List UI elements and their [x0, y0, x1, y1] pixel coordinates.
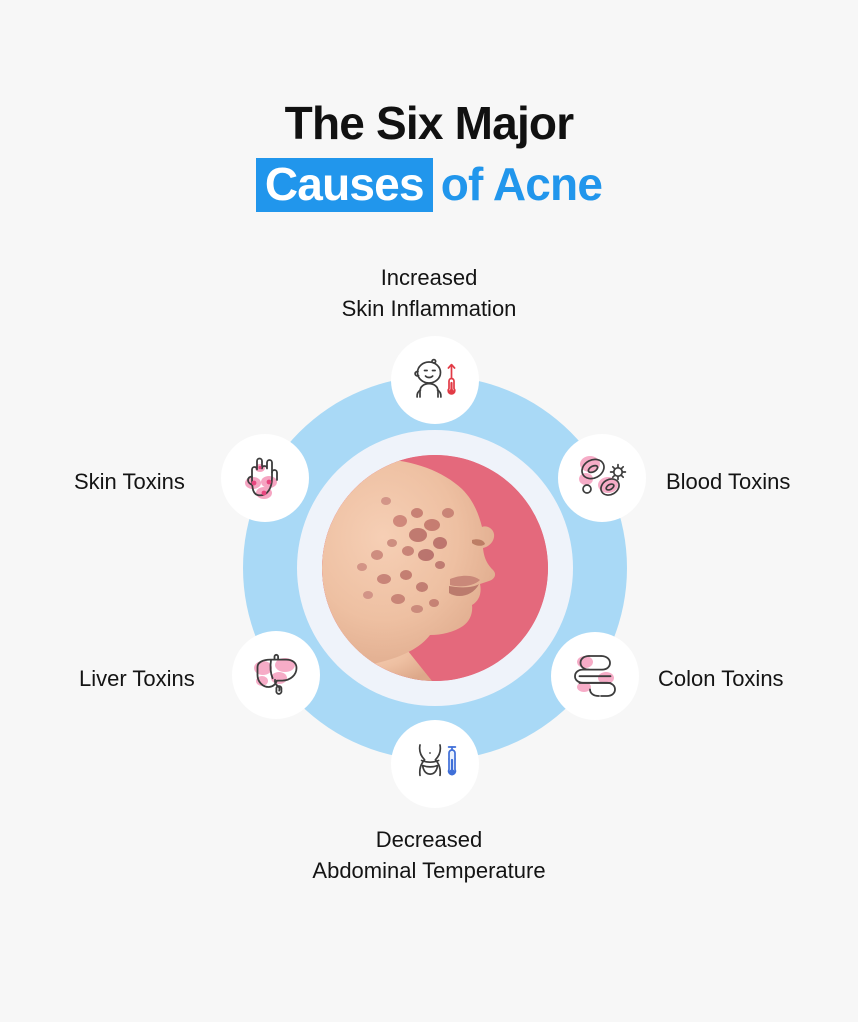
baby-thermometer-hot-icon — [407, 352, 463, 408]
cause-label-line2: Abdominal Temperature — [0, 855, 858, 886]
center-acne-face-photo — [322, 455, 548, 681]
cause-label-liver-toxins: Liver Toxins — [79, 663, 195, 694]
cause-bubble-colon-toxins[interactable] — [551, 632, 639, 720]
intestine-icon — [569, 650, 621, 702]
blood-cells-icon — [575, 451, 629, 505]
causes-wheel-diagram: Increased Skin Inflammation — [0, 0, 858, 1022]
liver-icon — [249, 648, 303, 702]
cause-label-line2: Skin Inflammation — [0, 293, 858, 324]
cause-bubble-increased-skin-inflammation[interactable] — [391, 336, 479, 424]
cause-bubble-blood-toxins[interactable] — [558, 434, 646, 522]
abdomen-thermometer-cold-icon — [407, 736, 463, 792]
cause-label-blood-toxins: Blood Toxins — [666, 466, 790, 497]
cause-bubble-skin-toxins[interactable] — [221, 434, 309, 522]
hand-rash-icon — [239, 452, 291, 504]
cause-bubble-decreased-abdominal-temperature[interactable] — [391, 720, 479, 808]
cause-label-line1: Increased — [381, 265, 478, 290]
cause-label-line1: Decreased — [376, 827, 482, 852]
cause-label-colon-toxins: Colon Toxins — [658, 663, 784, 694]
cause-label-increased-skin-inflammation: Increased Skin Inflammation — [0, 262, 858, 324]
cause-bubble-liver-toxins[interactable] — [232, 631, 320, 719]
cause-label-skin-toxins: Skin Toxins — [74, 466, 185, 497]
cause-label-decreased-abdominal-temperature: Decreased Abdominal Temperature — [0, 824, 858, 886]
